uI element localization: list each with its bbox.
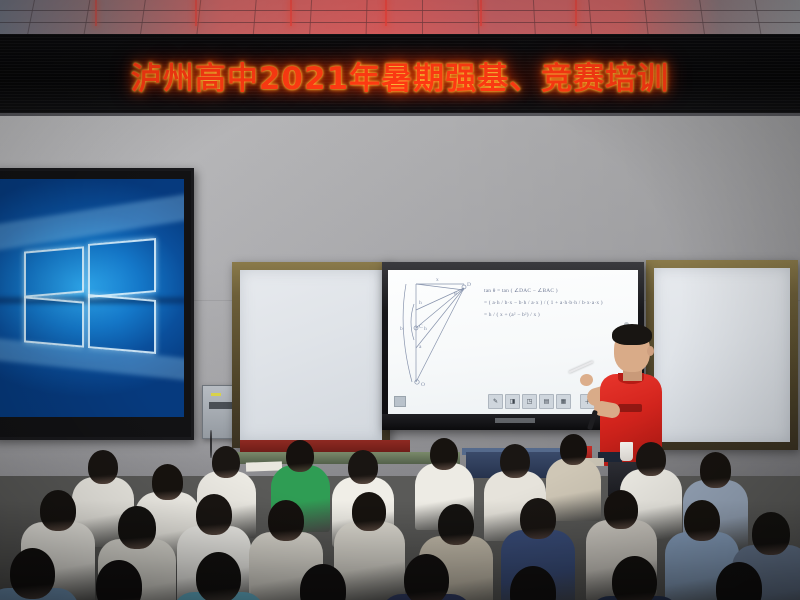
ceiling-grid-line bbox=[0, 10, 800, 11]
eraser-icon[interactable]: ◨ bbox=[505, 394, 520, 409]
student-head bbox=[196, 494, 232, 535]
svg-text:θ: θ bbox=[454, 291, 457, 297]
student bbox=[172, 552, 265, 600]
board-corner-button[interactable] bbox=[394, 396, 406, 407]
student bbox=[275, 564, 371, 600]
pen-icon[interactable]: ✎ bbox=[488, 394, 503, 409]
student-head bbox=[196, 552, 241, 600]
status-led-icon bbox=[211, 393, 221, 396]
equation-line-2: = ( a·h / b·x − b·h / a·x ) / ( 1 + a·h·… bbox=[484, 300, 634, 307]
teacher-hair bbox=[612, 324, 652, 345]
student-head bbox=[612, 556, 657, 600]
student-head bbox=[684, 500, 720, 541]
student-head bbox=[352, 492, 387, 531]
student-head bbox=[404, 554, 449, 600]
student-head bbox=[636, 442, 666, 476]
student-head bbox=[212, 446, 241, 478]
teacher-ear bbox=[647, 346, 654, 356]
student-head bbox=[604, 490, 639, 529]
windows-logo bbox=[18, 237, 166, 357]
svg-text:a: a bbox=[419, 344, 422, 350]
tv-screen-windows-desktop[interactable]: 9:11 2021/7/12 bbox=[0, 179, 184, 417]
svg-text:O: O bbox=[421, 382, 425, 388]
svg-text:h: h bbox=[419, 300, 422, 306]
led-banner: 泸州高中2021年暑期强基、竞赛培训 bbox=[0, 34, 800, 116]
ceiling-grid-line bbox=[0, 22, 800, 23]
student-head bbox=[268, 500, 304, 541]
student bbox=[0, 548, 79, 600]
student-head bbox=[300, 564, 347, 600]
student-head bbox=[118, 506, 156, 549]
student-head bbox=[286, 440, 315, 472]
svg-text:x: x bbox=[436, 277, 439, 283]
student-head bbox=[10, 548, 55, 599]
student-head bbox=[752, 512, 790, 555]
student-audience bbox=[0, 420, 800, 600]
ceiling-red-reflection bbox=[195, 0, 197, 26]
student bbox=[485, 566, 581, 600]
smartboard-toolbar[interactable]: ✎ ◨ ◳ ▤ ▦ bbox=[488, 394, 571, 409]
student bbox=[380, 554, 473, 600]
student-head bbox=[510, 566, 557, 600]
board-equations: tan θ = tan ( ∠DAC − ∠BAC ) = ( a·h / b·… bbox=[484, 288, 634, 319]
classroom-photo: 泸州高中2021年暑期强基、竞赛培训 9:11 20 bbox=[0, 0, 800, 600]
student-head bbox=[700, 452, 732, 488]
ceiling-red-reflection bbox=[95, 0, 97, 26]
student-head bbox=[88, 450, 118, 484]
student-head bbox=[438, 504, 474, 545]
shape-icon[interactable]: ◳ bbox=[522, 394, 537, 409]
svg-text:h: h bbox=[424, 326, 427, 332]
svg-text:b: b bbox=[400, 326, 403, 332]
student-head bbox=[430, 438, 459, 470]
student-head bbox=[96, 560, 143, 600]
svg-text:D: D bbox=[467, 282, 471, 288]
whiteboard-left-surface[interactable] bbox=[240, 270, 382, 440]
grid-icon[interactable]: ▦ bbox=[556, 394, 571, 409]
student bbox=[71, 560, 167, 600]
student-head bbox=[716, 562, 763, 600]
control-box-slot bbox=[209, 402, 233, 409]
shirt-graphic bbox=[618, 404, 642, 412]
ceiling-red-reflection bbox=[575, 0, 577, 26]
student-head bbox=[40, 490, 76, 531]
student-head bbox=[348, 450, 378, 484]
wall-mounted-tv[interactable]: 9:11 2021/7/12 bbox=[0, 168, 194, 440]
keyboard-icon[interactable]: ▤ bbox=[539, 394, 554, 409]
student-head bbox=[520, 498, 556, 539]
student bbox=[588, 556, 681, 600]
equation-line-1: tan θ = tan ( ∠DAC − ∠BAC ) bbox=[484, 288, 634, 295]
svg-text:C: C bbox=[419, 324, 423, 330]
equation-line-3: = h / ( x + (a² − b²) / x ) bbox=[484, 312, 634, 319]
ceiling-red-reflection bbox=[480, 0, 482, 26]
led-banner-text: 泸州高中2021年暑期强基、竞赛培训 bbox=[0, 34, 800, 116]
student bbox=[691, 562, 787, 600]
ceiling-red-reflection bbox=[385, 0, 387, 26]
student-head bbox=[500, 444, 530, 478]
ceiling-red-reflection bbox=[290, 0, 292, 26]
student-head bbox=[560, 434, 587, 465]
